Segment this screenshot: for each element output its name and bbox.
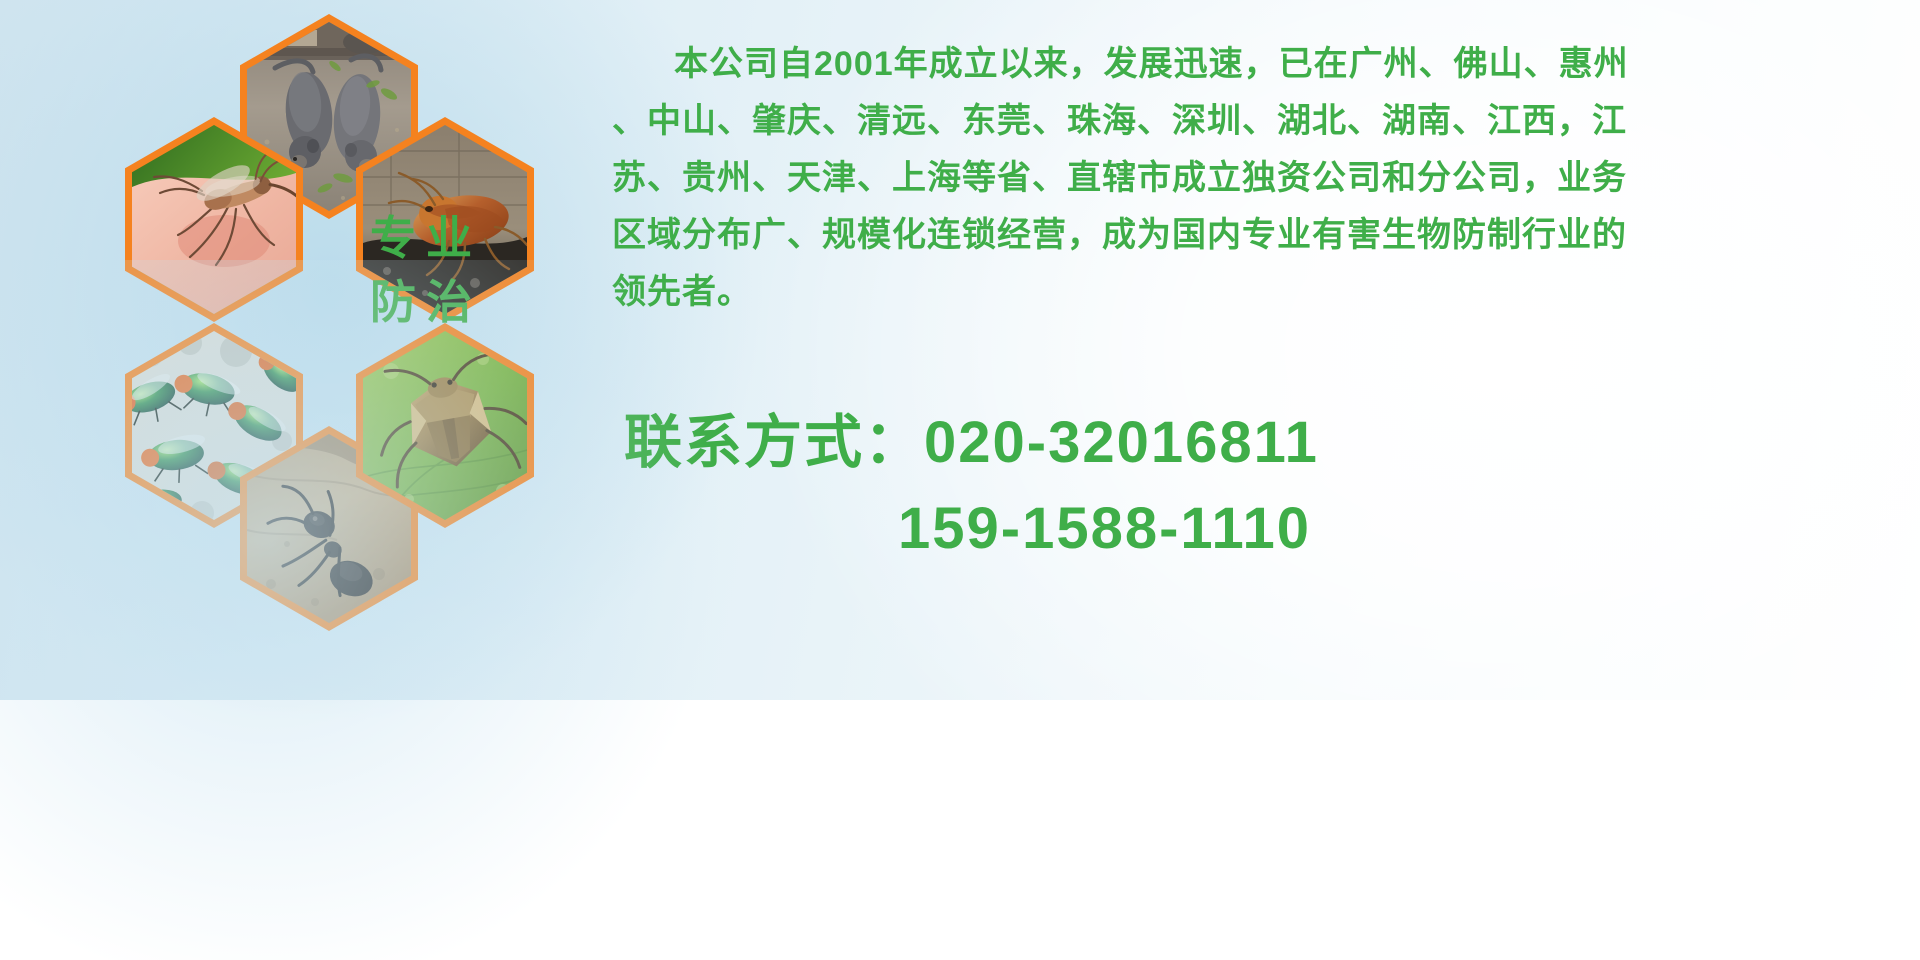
honeycomb-collage: 专业 防治 (100, 0, 620, 564)
about-line-5: 领先者。 (612, 264, 1908, 321)
about-line-3: 苏、贵州、天津、上海等省、直辖市成立独资公司和分公司，业务 (612, 150, 1908, 207)
about-line-2: 、中山、肇庆、清远、东莞、珠海、深圳、湖北、湖南、江西，江 (612, 93, 1908, 150)
about-line-4: 区域分布广、规模化连锁经营，成为国内专业有害生物防制行业的 (612, 207, 1908, 264)
about-line-1: 本公司自2001年成立以来，发展迅速，已在广州、佛山、惠州 (612, 36, 1908, 93)
contact-landline[interactable]: 联系方式：020-32016811 (612, 400, 1912, 486)
contact-mobile[interactable]: 159-1588-1110 (612, 486, 1912, 572)
contact-block: 联系方式：020-32016811 159-1588-1110 (612, 400, 1912, 572)
badge-caption: 专业 防治 (336, 170, 506, 370)
badge-line-1: 专业 (360, 215, 482, 261)
about-paragraph: 本公司自2001年成立以来，发展迅速，已在广州、佛山、惠州 、中山、肇庆、清远、… (612, 36, 1908, 321)
banner-root: 专业 防治 本公司自2001年成立以来，发展迅速，已在广州、佛山、惠州 、中山、… (0, 0, 1920, 700)
badge-line-2: 防治 (360, 279, 482, 325)
